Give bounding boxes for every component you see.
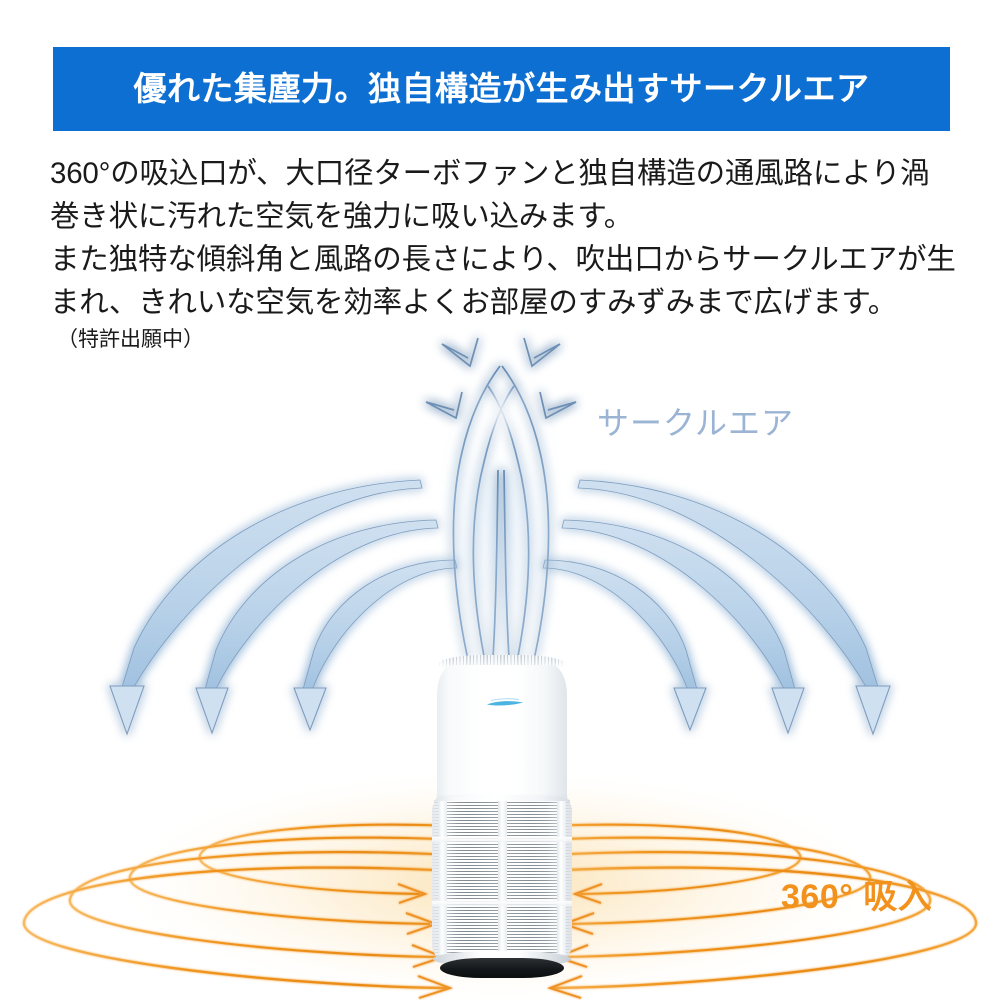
banner-title: 優れた集塵力。独自構造が生み出すサークルエア — [133, 72, 869, 107]
outflow-arrowhead-right-3 — [856, 686, 890, 734]
circle-air-column — [426, 330, 576, 710]
label-360-intake: 360° 吸入 — [781, 869, 932, 918]
body-post-middle — [498, 801, 507, 959]
outflow-arrowhead-right-2 — [772, 688, 804, 733]
outflow-arrowhead-left-1 — [294, 688, 326, 730]
outflow-arc-left-2 — [202, 520, 438, 700]
brand-logo-icon — [485, 696, 525, 708]
outflow-arrowhead-left-3 — [110, 686, 144, 734]
circle-air-strand-5 — [492, 470, 498, 672]
outflow-arcs-left — [110, 480, 457, 734]
body-post-right — [557, 801, 566, 959]
circle-air-arrowheads — [426, 338, 576, 418]
purifier-top-cap — [437, 665, 567, 803]
body-post-left — [438, 801, 447, 959]
outflow-arc-right-2 — [562, 520, 798, 700]
circle-air-strand-1 — [453, 366, 500, 660]
intake-arcs-left — [24, 825, 501, 988]
circle-air-strand-3 — [473, 386, 514, 666]
outflow-arc-right-3 — [578, 480, 882, 700]
outflow-arcs-right — [543, 480, 890, 734]
circle-air-strand-6 — [504, 470, 510, 672]
body-line-1: 360°の吸込口が、大口径ターボファンと独自構造の通風路により渦 — [50, 152, 960, 195]
header-banner: 優れた集塵力。独自構造が生み出すサークルエア — [53, 47, 950, 131]
air-purifier — [432, 655, 572, 975]
label-circle-air: サークルエア — [597, 398, 794, 444]
body-seam-upper — [432, 837, 572, 842]
outflow-arrowhead-right-1 — [674, 688, 706, 730]
body-line-3: また独特な傾斜角と風路の長さにより、吹出口からサークルエアが生 — [50, 238, 960, 281]
circle-air-strand-2 — [502, 366, 549, 660]
body-line-4: まれ、きれいな空気を効率よくお部屋のすみずみまで広げます。 — [50, 281, 960, 324]
body-seam-lower — [432, 901, 572, 906]
purifier-mesh-body — [432, 801, 572, 959]
outflow-arrowhead-left-2 — [196, 688, 228, 733]
body-line-2: 巻き状に汚れた空気を強力に吸い込みます。 — [50, 195, 960, 238]
body-copy: 360°の吸込口が、大口径ターボファンと独自構造の通風路により渦 巻き状に汚れた… — [50, 152, 960, 324]
circle-air-strand-4 — [488, 386, 529, 666]
patent-pending-note: （特許出願中） — [57, 326, 204, 354]
purifier-base — [440, 958, 564, 978]
page-root: 優れた集塵力。独自構造が生み出すサークルエア 360°の吸込口が、大口径ターボフ… — [0, 0, 1000, 1000]
outflow-arc-left-3 — [118, 480, 422, 700]
